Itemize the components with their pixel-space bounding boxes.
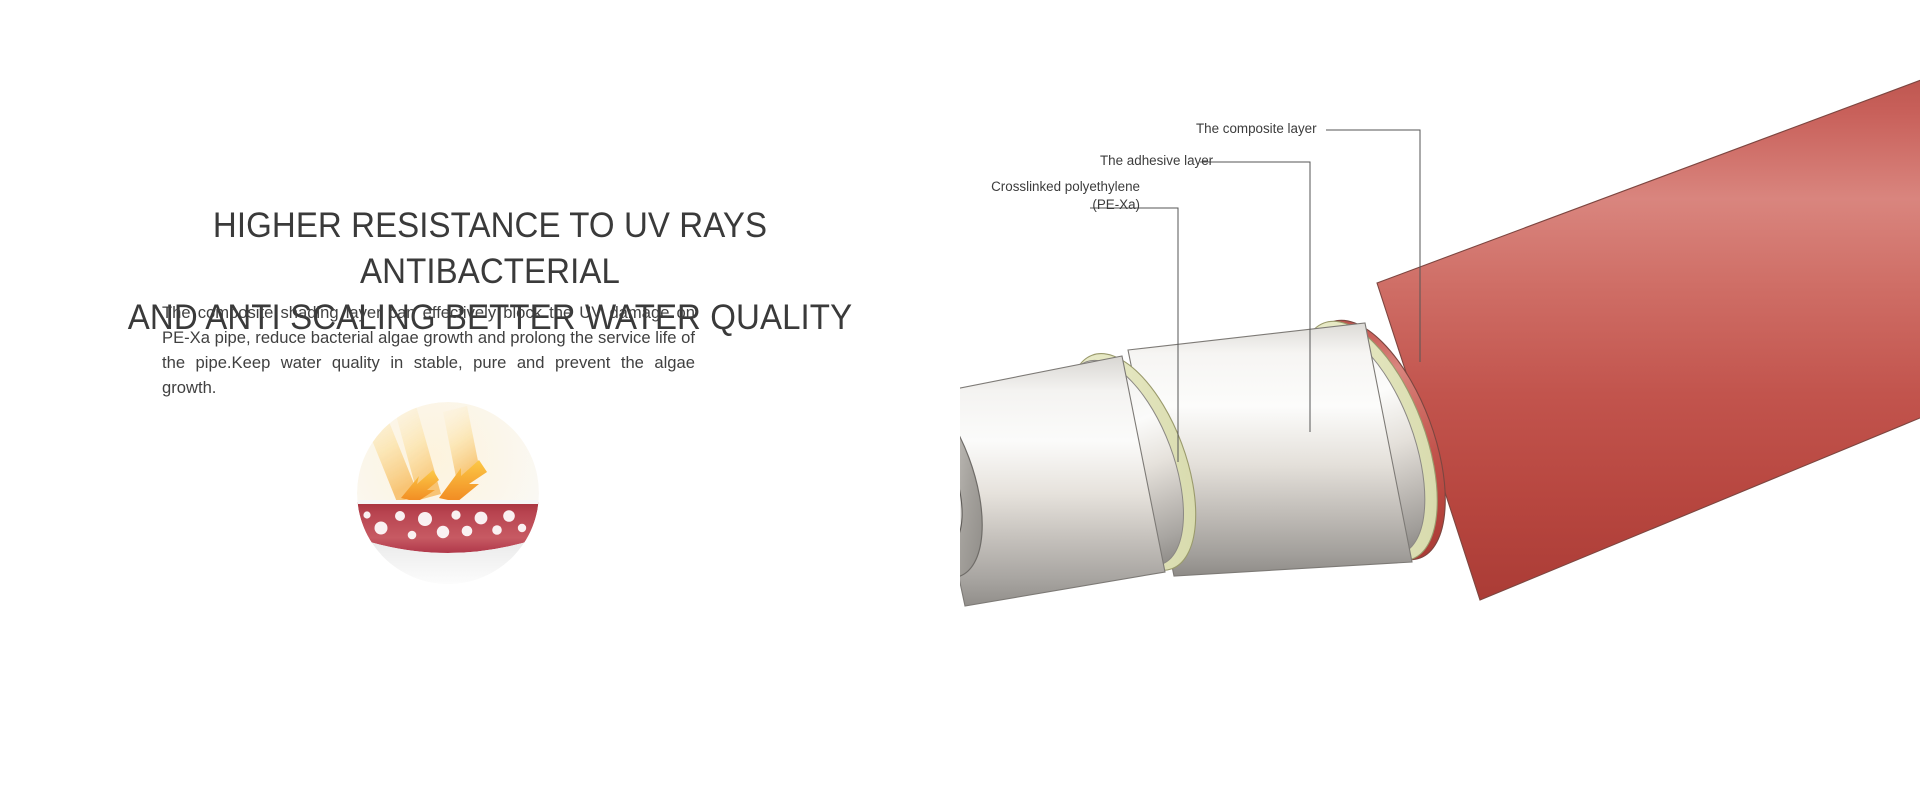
- callout-label-composite: The composite layer: [1196, 120, 1317, 138]
- text-panel: HIGHER RESISTANCE TO UV RAYS ANTIBACTERI…: [0, 0, 960, 800]
- callout-label-pexa: Crosslinked polyethylene (PE-Xa): [978, 178, 1140, 214]
- callout-label-adhesive: The adhesive layer: [1100, 152, 1213, 170]
- pex-a-multilayer-pipe: [960, 0, 1920, 800]
- composite-layer-surface: [1377, 58, 1920, 600]
- uv-shield-icon: [357, 402, 539, 584]
- body-paragraph: The composite shading layer can effectiv…: [162, 300, 695, 401]
